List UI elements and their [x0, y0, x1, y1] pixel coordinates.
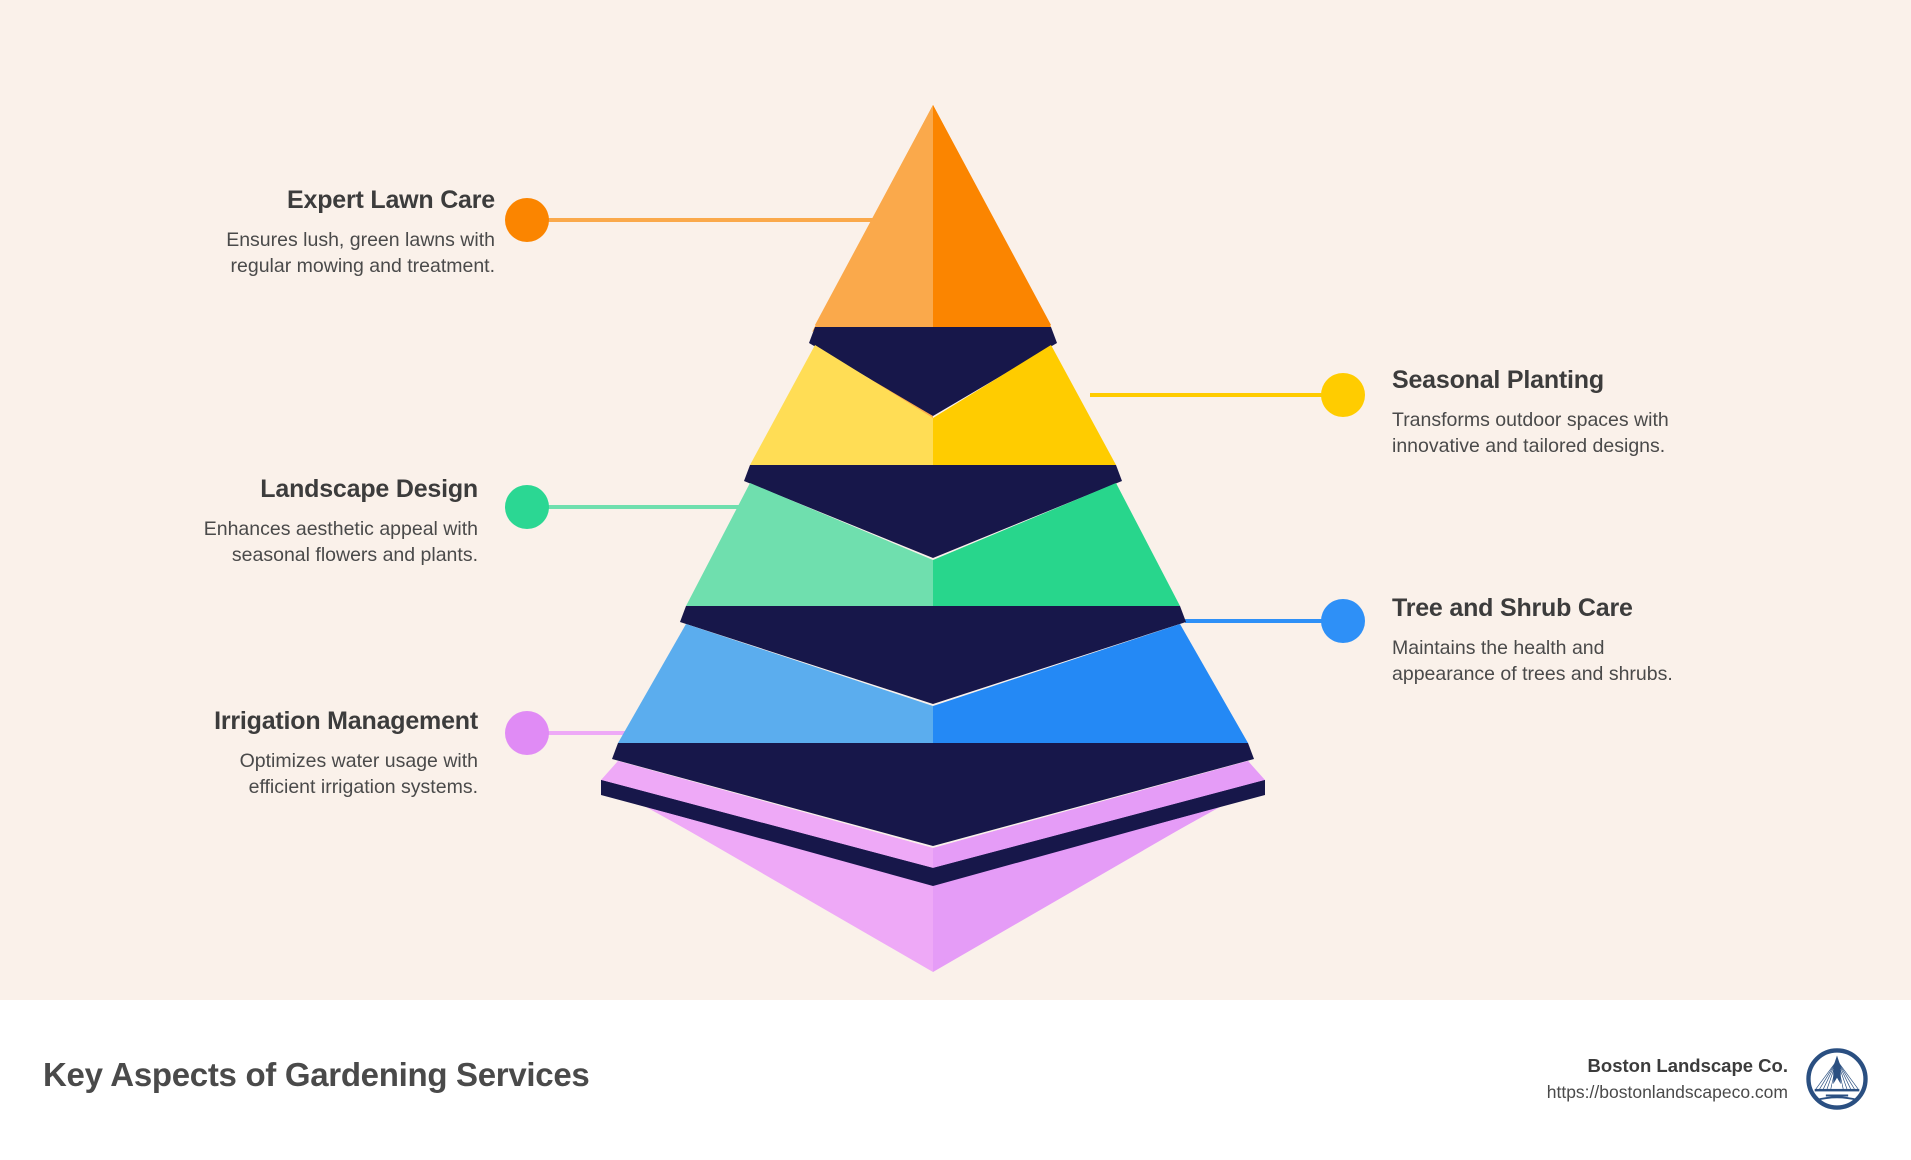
label-title-lawn: Expert Lawn Care [165, 186, 495, 215]
label-irrigation-management[interactable]: Irrigation Management Optimizes water us… [148, 707, 478, 800]
label-desc-lawn: Ensures lush, green lawns with regular m… [165, 227, 495, 280]
connector-dot-irrigation[interactable] [505, 711, 549, 755]
connector-dot-landscape[interactable] [505, 485, 549, 529]
label-title-tree: Tree and Shrub Care [1392, 594, 1722, 623]
brand-url[interactable]: https://bostonlandscapeco.com [1547, 1080, 1788, 1105]
zakim-bridge-logo-icon [1806, 1048, 1868, 1110]
footer-bar: Key Aspects of Gardening Services Boston… [0, 1000, 1911, 1160]
label-desc-irrigation-line2: efficient irrigation systems. [148, 774, 478, 800]
label-desc-seasonal-line2: innovative and tailored designs. [1392, 433, 1722, 459]
label-desc-tree: Maintains the health and appearance of t… [1392, 635, 1722, 688]
connector-dot-lawn[interactable] [505, 198, 549, 242]
label-desc-lawn-line2: regular mowing and treatment. [165, 253, 495, 279]
label-desc-seasonal-line1: Transforms outdoor spaces with [1392, 407, 1722, 433]
connector-dot-tree[interactable] [1321, 599, 1365, 643]
infographic-canvas: Expert Lawn Care Ensures lush, green law… [0, 0, 1911, 1160]
label-title-seasonal: Seasonal Planting [1392, 366, 1722, 395]
label-desc-landscape-line2: seasonal flowers and plants. [148, 542, 478, 568]
connector-dot-seasonal[interactable] [1321, 373, 1365, 417]
pyramid-stage: Expert Lawn Care Ensures lush, green law… [0, 0, 1911, 1000]
label-desc-landscape: Enhances aesthetic appeal with seasonal … [148, 516, 478, 569]
label-desc-irrigation: Optimizes water usage with efficient irr… [148, 748, 478, 801]
label-title-landscape: Landscape Design [148, 475, 478, 504]
brand-text: Boston Landscape Co. https://bostonlands… [1547, 1053, 1788, 1105]
label-expert-lawn-care[interactable]: Expert Lawn Care Ensures lush, green law… [165, 186, 495, 279]
label-desc-tree-line1: Maintains the health and [1392, 635, 1722, 661]
label-desc-lawn-line1: Ensures lush, green lawns with [165, 227, 495, 253]
brand-name: Boston Landscape Co. [1547, 1053, 1788, 1080]
label-seasonal-planting[interactable]: Seasonal Planting Transforms outdoor spa… [1392, 366, 1722, 459]
label-desc-tree-line2: appearance of trees and shrubs. [1392, 661, 1722, 687]
label-landscape-design[interactable]: Landscape Design Enhances aesthetic appe… [148, 475, 478, 568]
label-title-irrigation: Irrigation Management [148, 707, 478, 736]
footer-title: Key Aspects of Gardening Services [43, 1056, 589, 1094]
label-desc-irrigation-line1: Optimizes water usage with [148, 748, 478, 774]
label-desc-landscape-line1: Enhances aesthetic appeal with [148, 516, 478, 542]
label-desc-seasonal: Transforms outdoor spaces with innovativ… [1392, 407, 1722, 460]
brand-block[interactable]: Boston Landscape Co. https://bostonlands… [1547, 1048, 1868, 1110]
label-tree-and-shrub-care[interactable]: Tree and Shrub Care Maintains the health… [1392, 594, 1722, 687]
